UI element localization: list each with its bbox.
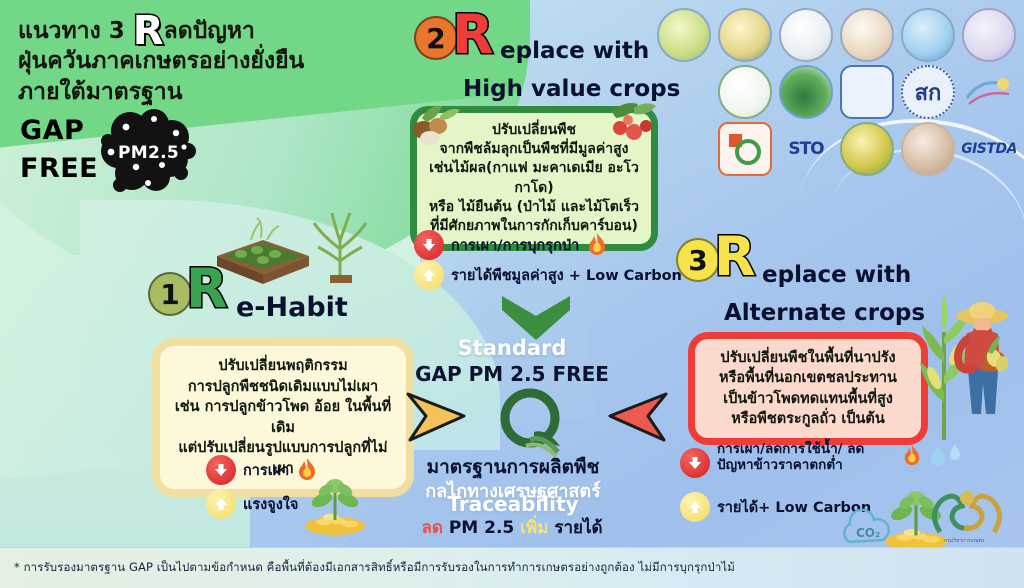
section-1-body-line-1: ปรับเปลี่ยนพฤติกรรม: [172, 356, 394, 377]
section-2-body-line-4: หรือ ไม้ยืนต้น (ป่าไม้ และไม้โตเร็ว: [427, 198, 641, 217]
up-arrow-icon-3: [680, 492, 710, 522]
section-3-body-line-4: หรือพืชตระกูลถั่ว เป็นต้น: [705, 409, 911, 429]
pm25-badge-label: PM2.5: [118, 143, 179, 163]
section-3-down-row: การเผา/ลดการใช้น้ำ/ ลดปัญหาข้าวราคาตกต่ำ: [680, 442, 963, 478]
department-logo-bottom-right: กรมวิชาการเกษตร: [922, 484, 1012, 546]
headline-line-1: แนวทาง 3 Rลดปัญหา: [18, 16, 418, 46]
gap-label: GAP: [20, 115, 84, 146]
headline-line-3: ภายใต้มาตรฐาน: [18, 77, 418, 107]
logo-seal-2: [718, 8, 772, 62]
up-arrow-icon-2: [414, 260, 444, 290]
logo-sor-text: สก: [915, 75, 942, 110]
headline-line-1-suffix: ลดปัญหา: [164, 18, 255, 44]
tema-icon: [725, 129, 765, 169]
standard-sub: GAP PM 2.5 FREE: [382, 362, 642, 386]
logo-row-2: สก: [646, 65, 1016, 119]
logo-gistda-text: GISTDA: [962, 141, 1016, 157]
logo-sto-text: STO: [788, 139, 823, 159]
section-2-letter-r: R: [452, 14, 494, 56]
section-1-body-line-3: เช่น การปลูกข้าวโพด อ้อย ในพื้นที่เดิม: [172, 397, 394, 438]
sapling-on-coins-illustration-1: [300, 472, 370, 536]
green-chevron-down-icon: [500, 290, 572, 342]
section-2-title-line1: eplace with: [500, 38, 649, 64]
berries-illustration: [604, 98, 662, 146]
standard-reduce-word: ลด: [421, 518, 442, 538]
section-1-up-row: แรงจูงใจ: [206, 489, 298, 519]
logo-seal-6: [962, 8, 1016, 62]
section-1-down-label: การเผา: [243, 459, 289, 482]
standard-bottom-row: ลด PM 2.5 เพิ่ม รายได้: [372, 514, 652, 541]
down-arrow-icon-3: [680, 448, 710, 478]
network-swoosh-icon: [963, 72, 1015, 112]
infographic-poster: แนวทาง 3 Rลดปัญหา ฝุ่นควันภาคเกษตรอย่างย…: [0, 0, 1024, 588]
section-2-down-row: การเผา/การบุกรุกป่า: [414, 230, 608, 260]
standard-increase-word: เพิ่ม: [520, 518, 548, 538]
section-1-title-line1: e-Habit: [236, 292, 348, 323]
section-3-body-line-2: หรือพื้นที่นอกเขตชลประทาน: [705, 368, 911, 388]
water-drop-icon: [929, 442, 963, 472]
section-3-title-line2: Alternate crops: [724, 300, 925, 326]
section-1-up-label: แรงจูงใจ: [243, 493, 298, 516]
fire-icon-3: [902, 444, 922, 468]
section-3-body-line-1: ปรับเปลี่ยนพืชในพื้นที่นาปรัง: [705, 348, 911, 368]
section-2-down-label: การเผา/การบุกรุกป่า: [451, 234, 579, 257]
logo-seal-11: [962, 65, 1016, 119]
up-arrow-icon-1: [206, 489, 236, 519]
logo-seal-15: [901, 122, 955, 176]
section-3-letter-r: R: [714, 236, 756, 278]
section-3-body-box: ปรับเปลี่ยนพืชในพื้นที่นาปรัง หรือพื้นที…: [688, 332, 928, 445]
logo-seal-14: [840, 122, 894, 176]
section-1-body-line-2: การปลูกพืชชนิดเดิมแบบไม่เผา: [172, 377, 394, 398]
fire-icon-2: [586, 232, 608, 258]
standard-word: Standard: [382, 336, 642, 360]
section-3-title-line1: eplace with: [762, 262, 911, 288]
headline-block: แนวทาง 3 Rลดปัญหา ฝุ่นควันภาคเกษตรอย่างย…: [18, 16, 418, 189]
logo-gistda: GISTDA: [962, 122, 1016, 176]
headline-line-2: ฝุ่นควันภาคเกษตรอย่างยั่งยืน: [18, 46, 418, 76]
logo-seal-9: [840, 65, 894, 119]
co2-label: CO₂: [856, 526, 880, 540]
section-3-number: 3: [688, 244, 707, 277]
section-3-body-line-3: เป็นข้าวโพดทดแทนพื้นที่สูง: [705, 389, 911, 409]
logo-sto: STO: [779, 122, 833, 176]
logo-seal-10: สก: [901, 65, 955, 119]
section-2-up-label: รายได้พืชมูลค่าสูง + Low Carbon: [451, 264, 682, 287]
section-2-number: 2: [426, 22, 445, 55]
logo-row-1: [646, 8, 1016, 62]
logo-seal-5: [901, 8, 955, 62]
farmer-illustration: [944, 296, 1018, 418]
headline-big-r: R: [133, 16, 164, 46]
logo-tema: [718, 122, 772, 176]
free-label: FREE: [20, 153, 98, 184]
standard-pm-word: PM 2.5: [449, 518, 514, 538]
section-2-body-line-3: เช่นไม้ผล(กาแฟ มะคาเดเมีย อะโวกาโด): [427, 159, 641, 197]
section-2-up-row: รายได้พืชมูลค่าสูง + Low Carbon: [414, 260, 682, 290]
logo-seal-7: [718, 65, 772, 119]
standard-traceability: Traceability: [378, 492, 648, 516]
standard-income-word: รายได้: [554, 518, 602, 538]
q-mark-logo: [494, 384, 572, 462]
headline-line-1-prefix: แนวทาง 3: [18, 18, 133, 44]
logo-seal-3: [779, 8, 833, 62]
sugarcane-illustration: [300, 205, 380, 285]
yellow-arrow-left: [404, 386, 474, 448]
section-3-down-label: การเผา/ลดการใช้น้ำ/ ลดปัญหาข้าวราคาตกต่ำ: [717, 442, 895, 473]
section-1-number: 1: [160, 278, 179, 311]
footer-bar: * การรับรองมาตรฐาน GAP เป็นไปตามข้อกำหนด…: [0, 547, 1024, 588]
logo-row-3: STO GISTDA: [646, 122, 1016, 176]
down-arrow-icon-2: [414, 230, 444, 260]
down-arrow-icon-1: [206, 455, 236, 485]
section-1-letter-r: R: [186, 268, 228, 310]
partner-logos: สก STO GISTDA: [646, 8, 1016, 179]
logo-seal-8: [779, 65, 833, 119]
logo-seal-4: [840, 8, 894, 62]
nuts-illustration: [404, 100, 462, 146]
footer-note: * การรับรองมาตรฐาน GAP เป็นไปตามข้อกำหนด…: [14, 559, 735, 577]
red-arrow-right: [600, 386, 670, 448]
svg-text:กรมวิชาการเกษตร: กรมวิชาการเกษตร: [944, 537, 985, 544]
logo-seal-1: [657, 8, 711, 62]
gap-free-block: GAP FREE PM2.5: [18, 113, 418, 189]
